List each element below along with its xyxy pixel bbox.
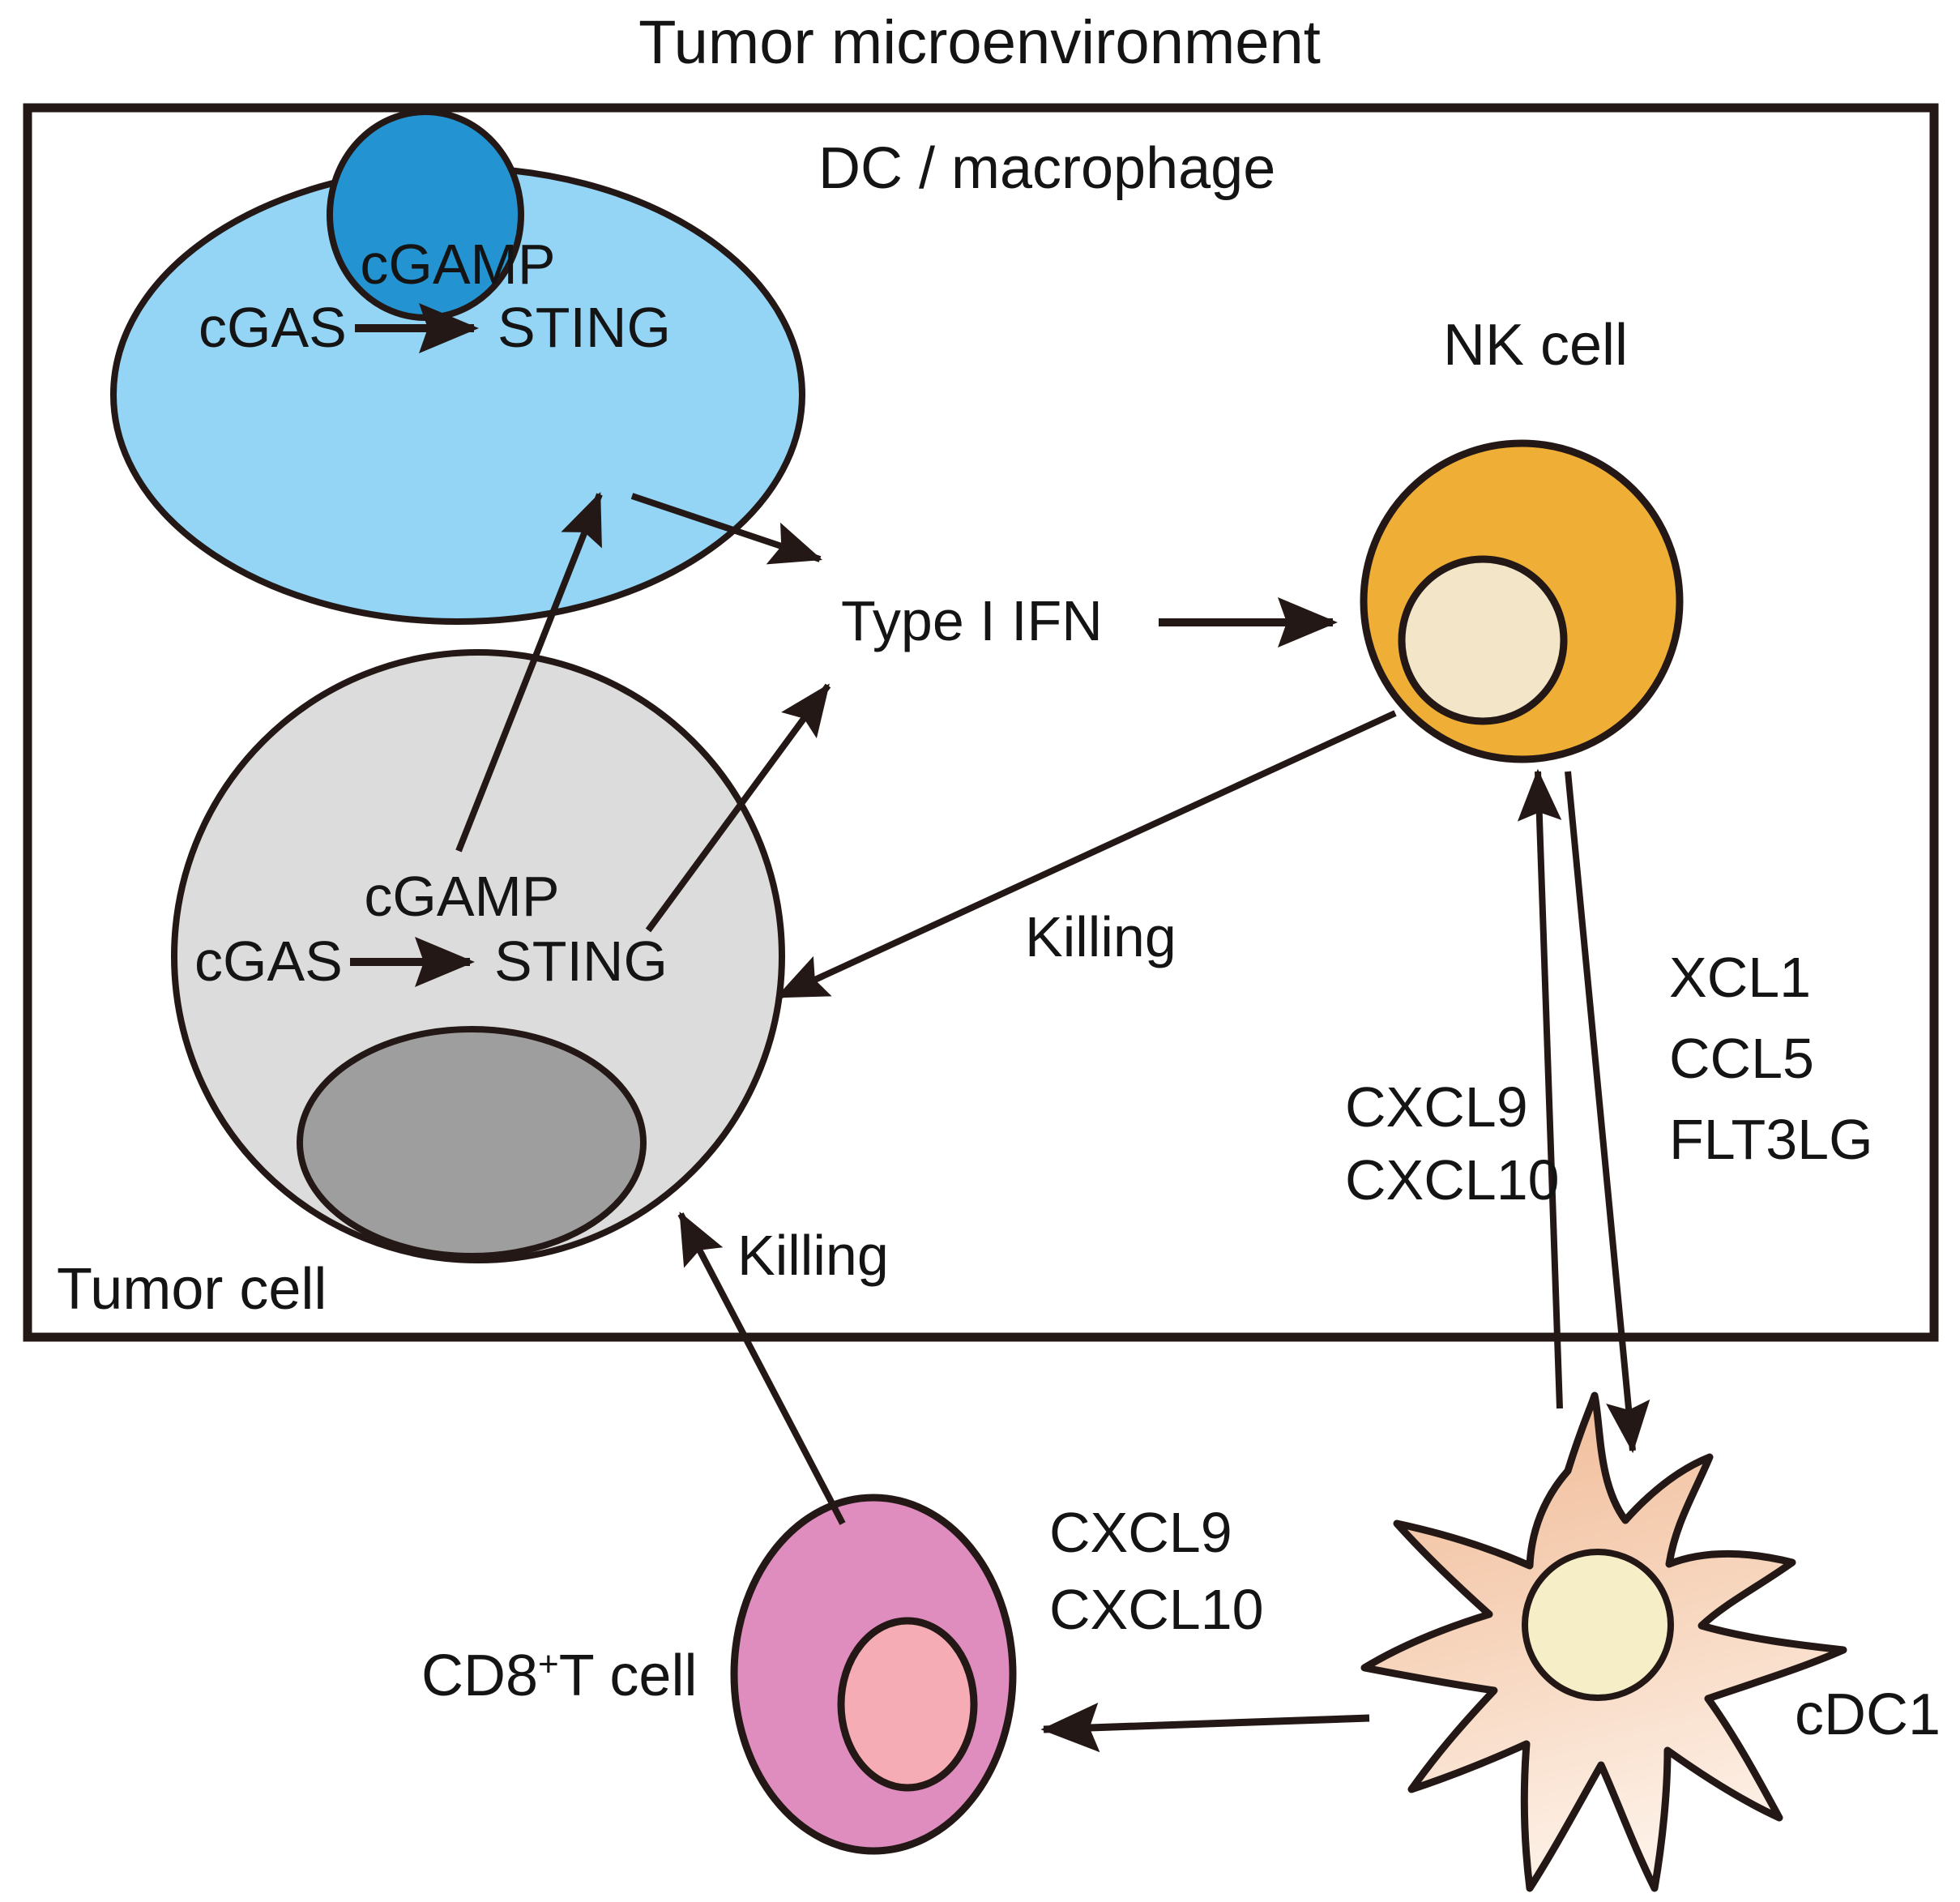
cell-nk[interactable]	[1364, 443, 1680, 759]
cell-cdc1[interactable]	[1364, 1396, 1843, 1888]
figure-root: Tumor microenvironment cGAMP cGAS STING …	[0, 0, 1960, 1902]
cd8-t-cell-label-main: CD8	[421, 1643, 538, 1708]
tumor-cgamp-label: cGAMP	[364, 865, 559, 928]
page-title: Tumor microenvironment	[638, 8, 1321, 77]
tumor-microenvironment-diagram: Tumor microenvironment cGAMP cGAS STING …	[0, 0, 1960, 1902]
cdc1-to-nk-chemokine-line2: CCL5	[1669, 1027, 1814, 1090]
type-i-ifn-label: Type I IFN	[841, 589, 1103, 652]
cdc1-to-nk-chemokine-line3: FLT3LG	[1669, 1108, 1873, 1171]
cell-tumor[interactable]: cGAMP cGAS STING	[174, 652, 782, 1260]
nk-to-cdc1-chemokine-line1: CXCL9	[1345, 1075, 1528, 1139]
cdc1-to-tcell-chemokine-line2: CXCL10	[1049, 1578, 1264, 1641]
nk-killing-label: Killing	[1025, 905, 1176, 968]
cd8-t-cell-nucleus	[841, 1621, 974, 1788]
dc-macrophage-label: DC / macrophage	[818, 136, 1275, 201]
tumor-sting-label: STING	[494, 930, 668, 993]
dc-cgamp-label: cGAMP	[360, 233, 555, 296]
cd8-t-cell-label: CD8+T cell	[421, 1643, 697, 1708]
cdc1-to-tcell-arrow	[1044, 1718, 1369, 1729]
cdc1-to-nk-arrow	[1538, 771, 1560, 1408]
tcell-killing-label: Killing	[737, 1224, 889, 1287]
dc-cgas-label: cGAS	[199, 296, 347, 359]
cd8-t-cell-label-superscript: +	[538, 1644, 559, 1684]
nk-cell-nucleus	[1402, 559, 1564, 721]
cell-cd8-t[interactable]	[734, 1498, 1013, 1851]
tumor-cell-label: Tumor cell	[57, 1257, 327, 1322]
nk-cell-label: NK cell	[1443, 313, 1628, 378]
nk-to-cdc1-chemokine-line2: CXCL10	[1345, 1148, 1560, 1212]
nk-to-cdc1-arrow	[1568, 771, 1633, 1451]
dc-sting-label: STING	[497, 296, 671, 359]
cdc1-to-tcell-chemokine-line1: CXCL9	[1049, 1501, 1232, 1564]
cell-dc-macrophage[interactable]: cGAMP cGAS STING	[113, 112, 802, 622]
cdc1-nucleus	[1525, 1552, 1671, 1698]
tumor-cgas-label: cGAS	[194, 930, 343, 993]
cd8-t-cell-label-tail: T cell	[559, 1643, 698, 1708]
tumor-cell-nucleus	[300, 1029, 643, 1256]
cdc1-label: cDC1	[1795, 1682, 1941, 1747]
cdc1-to-nk-chemokine-line1: XCL1	[1669, 946, 1811, 1009]
